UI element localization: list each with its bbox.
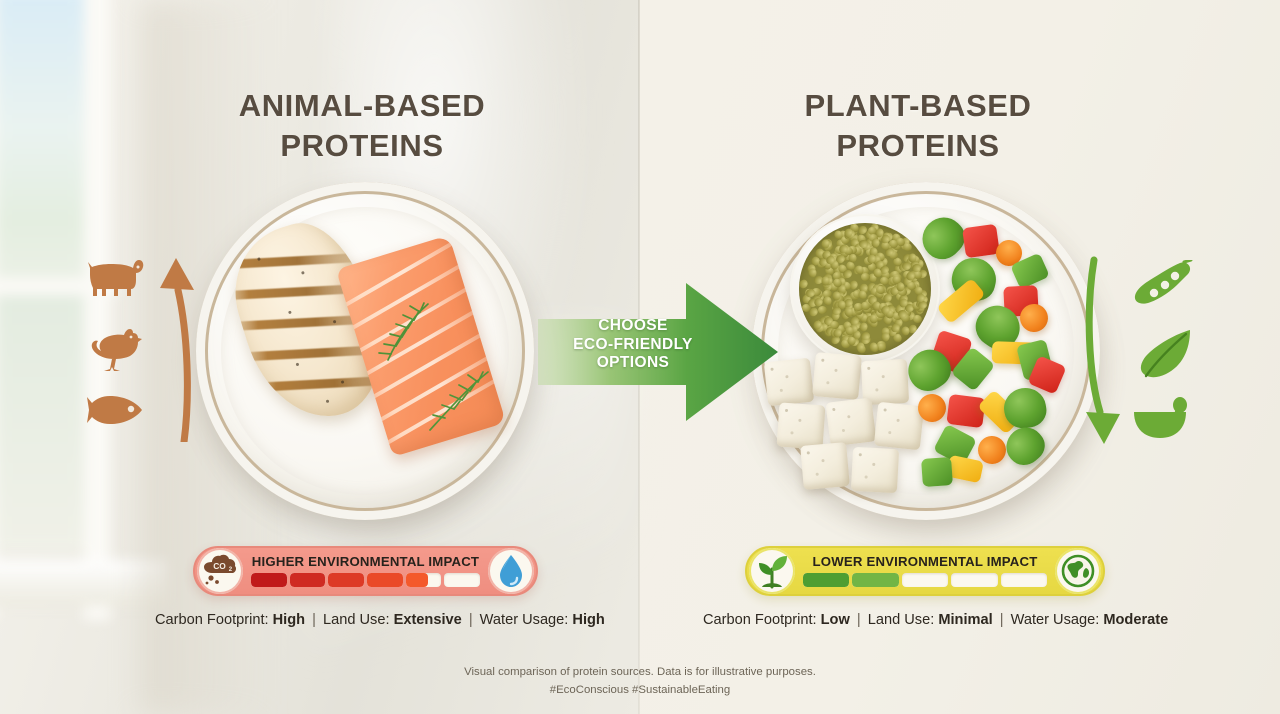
stat-value-water: High <box>572 612 604 628</box>
impact-label: HIGHER ENVIRONMENTAL IMPACT <box>251 555 480 568</box>
tofu-cube <box>825 397 876 446</box>
up-arrow-icon <box>154 256 200 442</box>
co2-cloud-icon: CO 2 <box>200 553 240 589</box>
pea-pod-icon <box>1132 260 1194 308</box>
lentil <box>902 327 910 336</box>
cow-icon <box>84 258 146 300</box>
tofu-cube <box>800 442 850 490</box>
arrow-line-1: CHOOSE <box>558 317 708 336</box>
tofu-cube <box>874 402 924 451</box>
impact-meter-left: HIGHER ENVIRONMENTAL IMPACT <box>245 555 486 587</box>
impact-meter-segment <box>328 573 364 587</box>
impact-meter-fill <box>406 573 428 587</box>
arrow-label: CHOOSE ECO-FRIENDLY OPTIONS <box>558 317 708 373</box>
stat-value-land: Minimal <box>938 612 992 628</box>
impact-meter-fill <box>803 573 849 587</box>
footer-line-2: #EcoConscious #SustainableEating <box>0 682 1280 700</box>
title-line-1: PLANT-BASED <box>708 86 1128 126</box>
animal-source-icons <box>84 256 194 446</box>
dill-garnish-secondary-icon <box>410 364 496 440</box>
lentil <box>808 268 816 277</box>
bowl-spoon-icon <box>1132 396 1194 442</box>
down-arrow-icon <box>1082 256 1128 446</box>
impact-meter-right: LOWER ENVIRONMENTAL IMPACT <box>797 555 1053 587</box>
sprout-icon <box>755 553 789 589</box>
tofu-cube <box>812 352 862 400</box>
footer-line-1: Visual comparison of protein sources. Da… <box>0 664 1280 682</box>
impact-meter-segment <box>251 573 287 587</box>
vegetable-piece <box>962 224 1000 258</box>
stat-separator: | <box>854 612 864 628</box>
impact-meter-segment <box>1001 573 1047 587</box>
stat-value-land: Extensive <box>394 612 462 628</box>
impact-meter-segment <box>803 573 849 587</box>
stat-value-carbon: Low <box>821 612 850 628</box>
footer-disclaimer: Visual comparison of protein sources. Da… <box>0 664 1280 699</box>
svg-text:CO: CO <box>213 561 226 571</box>
stat-separator: | <box>997 612 1007 628</box>
globe-icon <box>1061 554 1095 588</box>
stat-value-water: Moderate <box>1103 612 1168 628</box>
globe-icon-wrap <box>1055 548 1101 594</box>
stat-label-carbon: Carbon Footprint: <box>703 612 817 628</box>
window-foliage <box>0 290 90 550</box>
choose-eco-friendly-arrow[interactable]: CHOOSE ECO-FRIENDLY OPTIONS <box>538 283 778 421</box>
impact-meter-fill <box>328 573 364 587</box>
stat-separator: | <box>466 612 476 628</box>
title-line-1: ANIMAL-BASED <box>152 86 572 126</box>
animal-protein-plate <box>196 182 534 520</box>
fish-icon <box>86 392 146 428</box>
impact-meter-fill <box>251 573 287 587</box>
dill-garnish-icon <box>362 298 440 370</box>
stat-label-water: Water Usage: <box>1011 612 1100 628</box>
co2-cloud-icon-wrap: CO 2 <box>197 548 243 594</box>
animal-stats-line: Carbon Footprint: High | Land Use: Exten… <box>155 612 605 628</box>
sprout-icon-wrap <box>749 548 795 594</box>
plant-source-icons <box>1082 256 1197 452</box>
impact-label: LOWER ENVIRONMENTAL IMPACT <box>803 555 1047 568</box>
window-sky <box>0 0 90 320</box>
lentil <box>859 240 868 248</box>
arrow-line-3: OPTIONS <box>558 354 708 373</box>
stat-label-land: Land Use: <box>868 612 935 628</box>
lentils <box>799 223 931 355</box>
stat-label-land: Land Use: <box>323 612 390 628</box>
impact-meter-fill <box>852 573 898 587</box>
leaf-icon <box>1138 328 1194 382</box>
tofu-cube <box>851 447 899 493</box>
page-title-plant: PLANT-BASED PROTEINS <box>708 86 1128 165</box>
lower-impact-badge: LOWER ENVIRONMENTAL IMPACT <box>745 546 1105 596</box>
lentils-bowl-icon <box>790 214 940 364</box>
stat-separator: | <box>309 612 319 628</box>
lentil <box>912 314 923 325</box>
arrow-line-2: ECO-FRIENDLY <box>558 336 708 355</box>
stat-value-carbon: High <box>273 612 305 628</box>
impact-meter-fill <box>290 573 326 587</box>
plant-protein-plate <box>752 182 1100 520</box>
lentil <box>818 305 828 314</box>
infographic-canvas: ANIMAL-BASED PROTEINS PLANT-BASED PROTEI… <box>0 0 1280 714</box>
water-drop-icon-wrap <box>488 548 534 594</box>
title-line-2: PROTEINS <box>152 126 572 166</box>
vegetable-piece <box>921 457 953 487</box>
lentil <box>844 307 853 317</box>
chicken-icon <box>88 326 144 374</box>
page-title-animal: ANIMAL-BASED PROTEINS <box>152 86 572 165</box>
impact-meter-track <box>803 573 1047 587</box>
higher-impact-badge: CO 2 HIGHER ENVIRONMENTAL IMPACT <box>193 546 538 596</box>
plant-stats-line: Carbon Footprint: Low | Land Use: Minima… <box>703 612 1168 628</box>
vegetable-piece <box>946 394 985 428</box>
impact-meter-segment <box>951 573 997 587</box>
stat-label-water: Water Usage: <box>480 612 569 628</box>
tofu-cube <box>777 402 826 449</box>
water-drop-icon <box>498 554 524 588</box>
impact-meter-segment <box>852 573 898 587</box>
stat-label-carbon: Carbon Footprint: <box>155 612 269 628</box>
impact-meter-segment <box>290 573 326 587</box>
title-line-2: PROTEINS <box>708 126 1128 166</box>
impact-meter-track <box>251 573 480 587</box>
impact-meter-segment <box>902 573 948 587</box>
impact-meter-fill <box>367 573 403 587</box>
impact-meter-segment <box>367 573 403 587</box>
impact-meter-segment <box>444 573 480 587</box>
impact-meter-segment <box>406 573 442 587</box>
